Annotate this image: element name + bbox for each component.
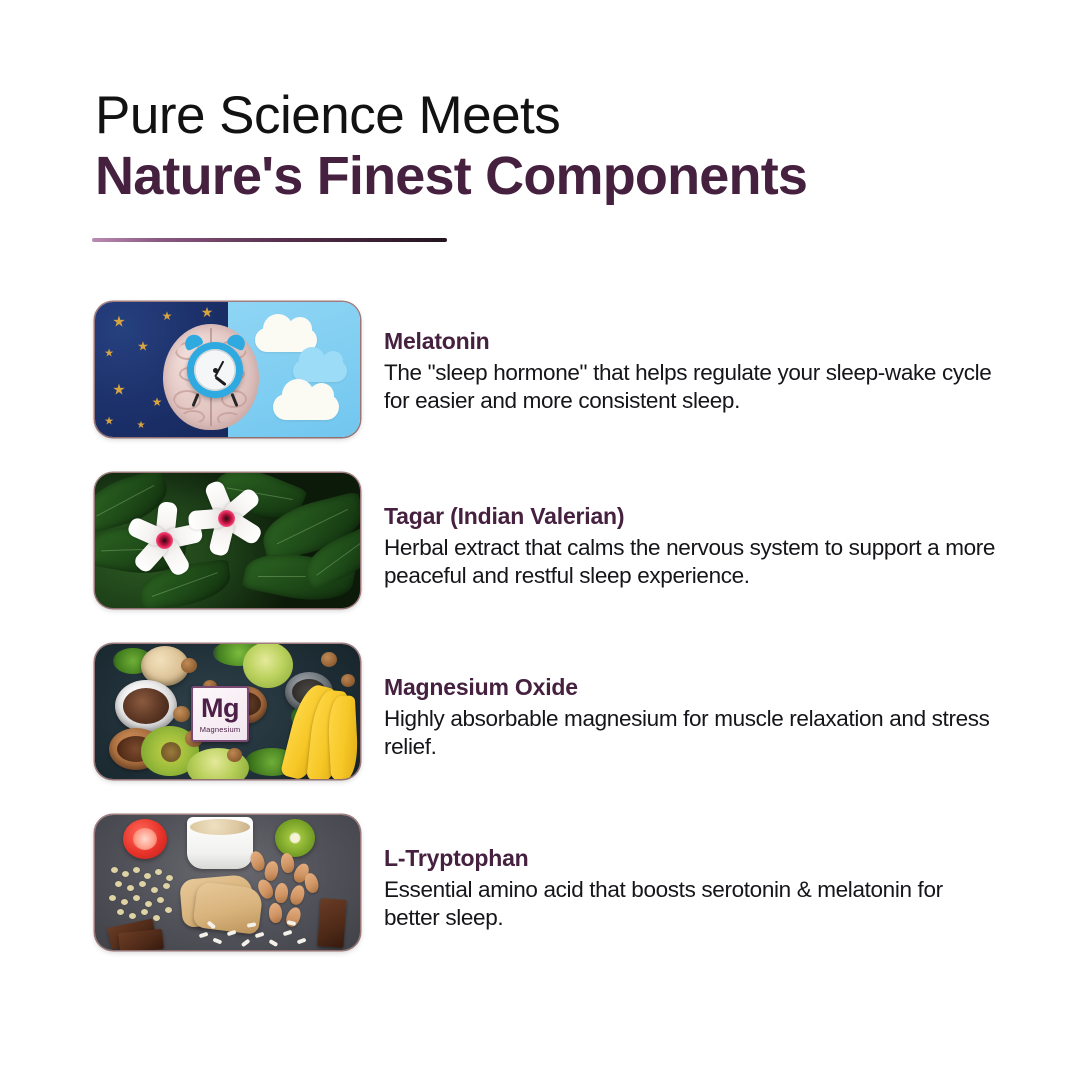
bread-slice: [192, 881, 263, 935]
hazelnut-shape: [181, 658, 197, 673]
lentil-pile: [166, 875, 173, 881]
ingredient-copy: Tagar (Indian Valerian) Herbal extract t…: [360, 473, 1000, 591]
avocado-pit: [161, 742, 181, 762]
ingredient-title: Melatonin: [384, 328, 1000, 356]
list-item: Melatonin The "sleep hormone" that helps…: [0, 302, 1080, 437]
chocolate-bar: [118, 929, 164, 950]
hazelnut-shape: [341, 674, 355, 687]
tomato-half: [123, 819, 167, 859]
lentil-pile: [133, 895, 140, 901]
hazelnut-shape: [321, 652, 337, 667]
hazelnut-shape: [173, 706, 190, 722]
infographic-page: Pure Science Meets Nature's Finest Compo…: [0, 0, 1080, 1080]
headline-line-1: Pure Science Meets: [95, 86, 1015, 145]
magnesium-rich-foods-image: Mg Magnesium: [95, 644, 360, 779]
ingredient-title: Magnesium Oxide: [384, 674, 1000, 702]
lentil-pile: [163, 883, 170, 889]
element-name: Magnesium: [200, 725, 241, 734]
chocolate-chunks: [123, 688, 169, 724]
cloud-shape: [273, 394, 339, 420]
ingredient-description: Essential amino acid that boosts seroton…: [384, 876, 1000, 934]
lentil-pile: [115, 881, 122, 887]
lentil-pile: [129, 913, 136, 919]
lentil-pile: [165, 907, 172, 913]
lentil-pile: [141, 909, 148, 915]
ingredient-copy: Melatonin The "sleep hormone" that helps…: [360, 302, 1000, 416]
list-item: Mg Magnesium Magnesium Oxide Highly abso…: [0, 644, 1080, 779]
ingredient-copy: Magnesium Oxide Highly absorbable magnes…: [360, 644, 1000, 762]
ingredient-copy: L-Tryptophan Essential amino acid that b…: [360, 815, 1000, 933]
lentil-pile: [117, 909, 124, 915]
hazelnut-shape: [227, 748, 242, 762]
banana-shape: [327, 695, 359, 779]
lentil-pile: [157, 897, 164, 903]
ingredient-title: L-Tryptophan: [384, 845, 1000, 873]
chocolate-bar: [317, 898, 346, 948]
oat-bowl: [187, 817, 253, 869]
kiwi-half: [275, 819, 315, 857]
ingredient-title: Tagar (Indian Valerian): [384, 503, 1000, 531]
tryptophan-rich-foods-image: [95, 815, 360, 950]
white-valerian-flowers-image: [95, 473, 360, 608]
alarm-clock-icon: [187, 342, 243, 398]
page-title: Nature's Finest Components: [95, 145, 1015, 209]
lentil-pile: [145, 901, 152, 907]
list-item: Tagar (Indian Valerian) Herbal extract t…: [0, 473, 1080, 608]
ingredient-description: Highly absorbable magnesium for muscle r…: [384, 705, 1000, 763]
lentil-pile: [139, 881, 146, 887]
ingredient-description: The "sleep hormone" that helps regulate …: [384, 359, 1000, 417]
lentil-pile: [144, 873, 151, 879]
page-header: Pure Science Meets Nature's Finest Compo…: [95, 86, 1015, 209]
lentil-pile: [111, 867, 118, 873]
lentil-pile: [122, 871, 129, 877]
brain-with-alarm-clock-image: [95, 302, 360, 437]
ingredient-list: Melatonin The "sleep hormone" that helps…: [0, 302, 1080, 986]
lentil-pile: [109, 895, 116, 901]
lentil-pile: [121, 899, 128, 905]
ingredient-description: Herbal extract that calms the nervous sy…: [384, 534, 1000, 592]
cabbage-shape: [243, 644, 293, 688]
lentil-pile: [151, 887, 158, 893]
lentil-pile: [153, 915, 160, 921]
lentil-pile: [133, 867, 140, 873]
lentil-pile: [155, 869, 162, 875]
header-divider: [92, 238, 447, 242]
list-item: L-Tryptophan Essential amino acid that b…: [0, 815, 1080, 950]
flower-shape: [187, 479, 265, 557]
lentil-pile: [127, 885, 134, 891]
element-symbol: Mg: [201, 695, 239, 722]
magnesium-element-tile: Mg Magnesium: [191, 686, 249, 742]
